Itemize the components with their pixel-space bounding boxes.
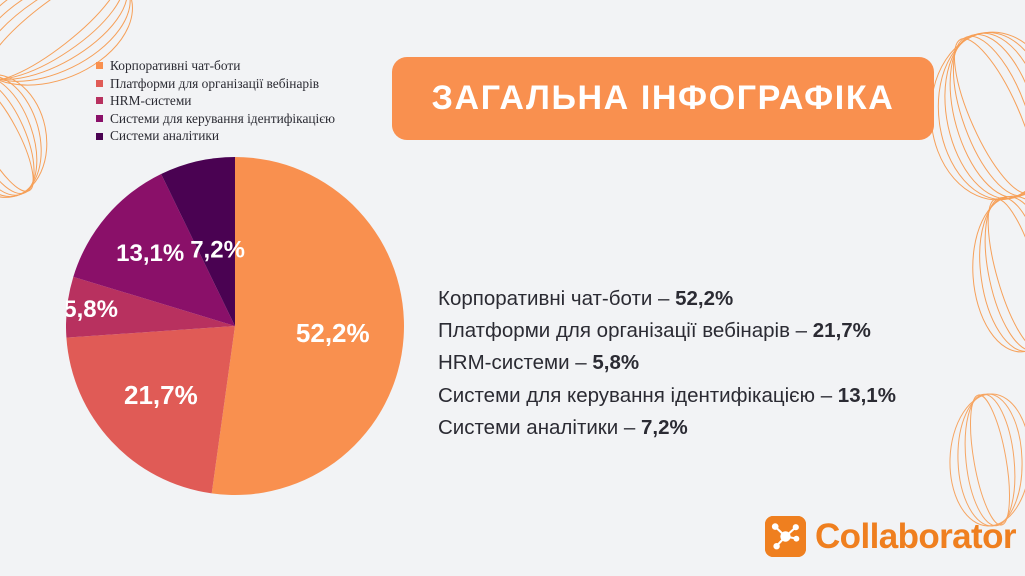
page-title: ЗАГАЛЬНА ІНФОГРАФІКА bbox=[432, 79, 895, 118]
breakdown-row: Системи для керування ідентифікацією – 1… bbox=[438, 380, 998, 412]
pie-slice-label: 7,2% bbox=[190, 237, 245, 264]
legend-swatch-icon bbox=[96, 115, 103, 122]
breakdown-row: Системи аналітики – 7,2% bbox=[438, 412, 998, 444]
collaborator-logo[interactable]: Collaborator bbox=[765, 516, 1016, 557]
breakdown-row: Корпоративні чат-боти – 52,2% bbox=[438, 283, 998, 315]
legend-item: HRM-системи bbox=[96, 92, 396, 110]
legend-swatch-icon bbox=[96, 133, 103, 140]
legend-item-label: Платформи для організації вебінарів bbox=[110, 77, 319, 90]
legend-swatch-icon bbox=[96, 80, 103, 87]
legend-swatch-icon bbox=[96, 62, 103, 69]
legend-item: Корпоративні чат-боти bbox=[96, 57, 396, 75]
breakdown-separator: – bbox=[570, 351, 593, 374]
breakdown-value: 13,1% bbox=[838, 384, 896, 407]
legend-item-label: Системи для керування ідентифікацією bbox=[110, 112, 335, 125]
breakdown-value: 52,2% bbox=[675, 287, 733, 310]
infographic-slide: Корпоративні чат-боти Платформи для орга… bbox=[0, 0, 1025, 576]
breakdown-value: 5,8% bbox=[592, 351, 639, 374]
molecule-network-icon bbox=[765, 516, 806, 557]
pie-chart-svg: 52,2%21,7%5,8%13,1%7,2% bbox=[66, 157, 404, 495]
pie-slice-label: 5,8% bbox=[66, 296, 118, 323]
breakdown-name: HRM-системи bbox=[438, 351, 570, 374]
legend-item: Платформи для організації вебінарів bbox=[96, 75, 396, 93]
breakdown-list: Корпоративні чат-боти – 52,2% Платформи … bbox=[438, 283, 998, 444]
breakdown-name: Корпоративні чат-боти bbox=[438, 287, 652, 310]
chart-legend: Корпоративні чат-боти Платформи для орга… bbox=[96, 57, 396, 145]
breakdown-name: Платформи для організації вебінарів bbox=[438, 319, 790, 342]
breakdown-separator: – bbox=[652, 287, 675, 310]
pie-slice-label: 13,1% bbox=[116, 240, 184, 267]
breakdown-separator: – bbox=[618, 416, 641, 439]
breakdown-name: Системи для керування ідентифікацією bbox=[438, 384, 815, 407]
title-banner: ЗАГАЛЬНА ІНФОГРАФІКА bbox=[392, 57, 934, 140]
breakdown-name: Системи аналітики bbox=[438, 416, 618, 439]
pie-slice-label: 21,7% bbox=[124, 380, 198, 410]
breakdown-value: 7,2% bbox=[641, 416, 688, 439]
breakdown-value: 21,7% bbox=[813, 319, 871, 342]
breakdown-row: Платформи для організації вебінарів – 21… bbox=[438, 315, 998, 347]
breakdown-row: HRM-системи – 5,8% bbox=[438, 347, 998, 379]
pie-chart: 52,2%21,7%5,8%13,1%7,2% bbox=[66, 157, 404, 495]
legend-swatch-icon bbox=[96, 97, 103, 104]
legend-item-label: HRM-системи bbox=[110, 94, 191, 107]
legend-item-label: Системи аналітики bbox=[110, 129, 219, 142]
breakdown-separator: – bbox=[815, 384, 838, 407]
breakdown-separator: – bbox=[790, 319, 813, 342]
legend-item: Системи для керування ідентифікацією bbox=[96, 110, 396, 128]
legend-item-label: Корпоративні чат-боти bbox=[110, 59, 240, 72]
pie-slice-label: 52,2% bbox=[296, 318, 370, 348]
logo-wordmark: Collaborator bbox=[815, 519, 1016, 554]
legend-item: Системи аналітики bbox=[96, 127, 396, 145]
